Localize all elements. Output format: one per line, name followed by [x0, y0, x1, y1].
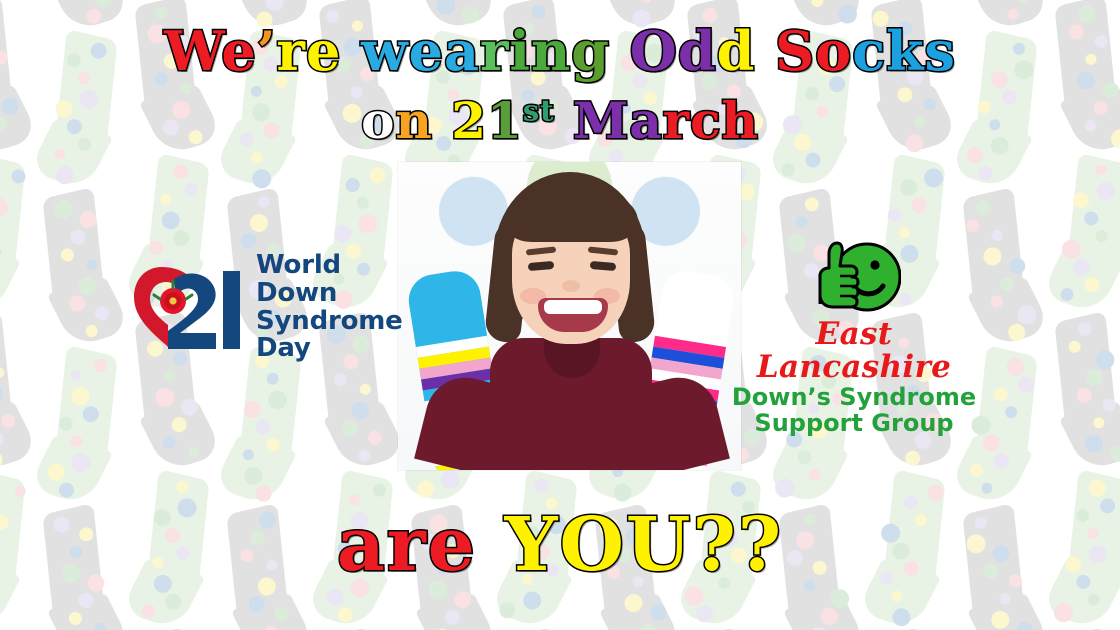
bottom-bubble-seg-1	[477, 502, 505, 588]
background-sock	[128, 0, 216, 154]
background-sock	[0, 312, 32, 471]
background-sock	[772, 30, 860, 189]
background-sock	[0, 0, 32, 154]
wdsd-logo-text: World Down Syndrome Day	[256, 252, 403, 363]
eldssg-subtitle-line-2: Support Group	[716, 410, 992, 436]
wdsd-21-heart-rose-icon	[128, 255, 246, 361]
wdsd-line-syndrome: Syndrome	[256, 308, 403, 336]
girl-fringe	[504, 190, 638, 242]
background-sock	[680, 0, 768, 154]
girl-with-odd-socks-photo	[398, 162, 741, 470]
wdsd-line-day: Day	[256, 335, 403, 363]
background-sock	[220, 0, 308, 30]
background-sock	[36, 30, 124, 189]
bottom-headline: are YOU??	[0, 508, 1120, 582]
green-thumbs-up-smiley-icon	[807, 238, 901, 316]
wdsd-line-world: World	[256, 252, 403, 280]
east-lancashire-dssg-logo: East Lancashire Down’s Syndrome Support …	[716, 238, 992, 437]
background-sock-foot	[0, 400, 40, 471]
background-sock	[496, 0, 584, 154]
background-sock	[956, 0, 1044, 30]
background-sock	[404, 0, 492, 30]
background-sock	[772, 0, 860, 30]
bottom-headline-text: are YOU??	[337, 508, 783, 582]
bottom-bubble-seg-2: YOU??	[505, 502, 784, 588]
eldssg-subtitle-line-1: Down’s Syndrome	[716, 384, 992, 410]
background-sock	[220, 30, 308, 189]
background-sock	[1048, 0, 1120, 154]
background-sock	[36, 0, 124, 30]
background-sock	[36, 188, 124, 347]
background-sock	[1048, 154, 1120, 313]
background-sock	[36, 346, 124, 505]
background-sock	[1048, 312, 1120, 471]
girl-nose	[562, 280, 580, 292]
bottom-bubble-seg-0: are	[337, 502, 477, 588]
background-sock	[588, 0, 676, 30]
background-sock	[956, 30, 1044, 189]
background-sock	[220, 346, 308, 505]
world-down-syndrome-day-logo: World Down Syndrome Day	[128, 252, 403, 363]
girl-teeth	[544, 300, 602, 314]
background-sock	[0, 154, 32, 313]
background-sock	[312, 0, 400, 154]
poster-canvas: We’re wearing Odd Socks on 21st March	[0, 0, 1120, 630]
wdsd-line-down: Down	[256, 280, 403, 308]
background-sock	[864, 0, 952, 154]
east-lancashire-title: East Lancashire	[716, 318, 992, 383]
east-lancashire-subtitle: Down’s Syndrome Support Group	[716, 384, 992, 437]
background-sock-foot	[415, 0, 500, 32]
